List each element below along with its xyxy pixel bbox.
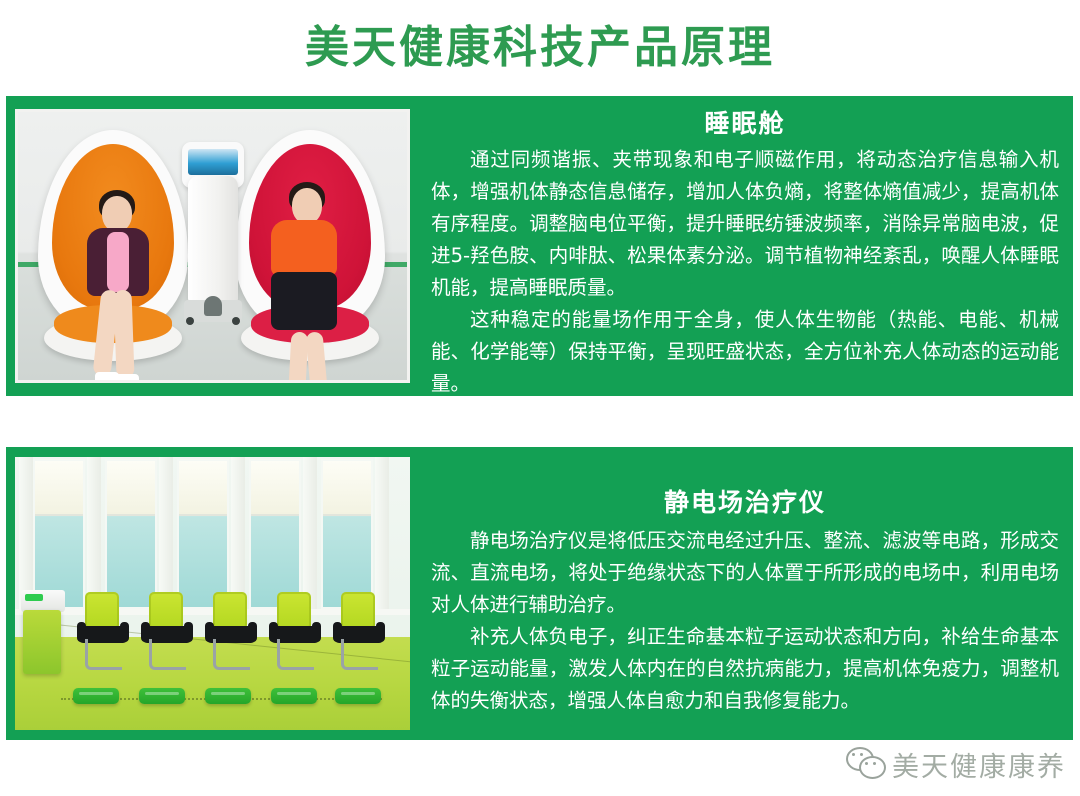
control-console-machine [182,142,244,322]
window-mullion [87,457,101,613]
chair-backrest [277,592,311,628]
window-blind [35,461,83,516]
chair-leg [341,639,378,670]
photo-therapy-room [15,457,410,730]
section-paragraph: 静电场治疗仪是将低压交流电经过升压、整流、滤波等电路，形成交流、直流电场，将处于… [431,525,1059,621]
console-body [188,176,238,304]
foot-pad-electrode [271,688,317,704]
chair-leg [85,639,122,670]
chair-leg [277,639,314,670]
window [33,459,85,609]
caster-wheel [232,317,240,325]
console-screen [188,149,238,175]
footer-brand-text: 美天健康康养 [892,745,1066,784]
footer-brand-watermark: 美天健康康养 [846,742,1066,786]
page-title: 美天健康科技产品原理 [0,22,1080,74]
section-paragraph: 这种稳定的能量场作用于全身，使人体生物能（热能、电能、机械能、化学能等）保持平衡… [431,304,1059,400]
window [177,459,229,609]
wechat-icon [846,747,884,781]
window-blind [179,461,227,516]
caster-wheel [186,317,194,325]
control-unit [21,590,65,612]
foot-pad-electrode [205,688,251,704]
chair-backrest [149,592,183,628]
wechat-eye [865,762,868,765]
leg [113,290,134,379]
wechat-eye [860,753,863,756]
window-mullion [375,457,389,613]
chair-backrest [341,592,375,628]
therapy-chair [77,592,129,670]
shoe [115,374,139,380]
foot-pad-electrode [139,688,185,704]
therapy-chair [269,592,321,670]
window-blind [107,461,155,516]
window-blind [251,461,299,516]
therapy-chair [141,592,193,670]
section-paragraph: 通过同频谐振、夹带现象和电子顺磁作用，将动态治疗信息输入机体，增强机体静态信息储… [431,144,1059,304]
chair-backrest [213,592,247,628]
text-column-electrostatic-therapy: 静电场治疗仪 静电场治疗仪是将低压交流电经过升压、整流、滤波等电路，形成交流、直… [431,483,1059,717]
person-in-red-pod [249,182,349,380]
window-blind [323,461,371,516]
therapy-chair [205,592,257,670]
window [249,459,301,609]
torso [271,220,337,276]
section-panel-electrostatic-therapy: 静电场治疗仪 静电场治疗仪是将低压交流电经过升压、整流、滤波等电路，形成交流、直… [6,447,1073,740]
section-paragraph: 补充人体负电子，纠正生命基本粒子运动状态和方向，补给生命基本粒子运动能量，激发人… [431,621,1059,717]
foot-pad-electrode [73,688,119,704]
section-heading-electrostatic-therapy: 静电场治疗仪 [431,483,1059,523]
person-in-orange-pod [73,190,173,380]
chair-backrest [85,592,119,628]
window-mullion [303,457,317,613]
leg [306,331,328,380]
chair-leg [149,639,186,670]
photo-sleep-pod-room [18,112,407,380]
foot-pad-electrode [335,688,381,704]
console-notch [204,296,222,316]
wechat-eye [873,762,876,765]
section-panel-sleep-pod: 睡眠舱 通过同频谐振、夹带现象和电子顺磁作用，将动态治疗信息输入机体，增强机体静… [6,96,1073,396]
room-background [18,112,407,380]
therapy-chair [333,592,385,670]
console-foot [184,300,242,322]
window [105,459,157,609]
head [102,196,132,232]
chair-leg [213,639,250,670]
wechat-bubble-small [859,756,886,779]
window-mullion [231,457,245,613]
head [292,188,322,224]
room-background [15,457,410,730]
leg [289,332,309,380]
photo-frame-electrostatic-therapy [15,457,410,730]
generator-cabinet [23,610,61,674]
text-column-sleep-pod: 睡眠舱 通过同频谐振、夹带现象和电子顺磁作用，将动态治疗信息输入机体，增强机体静… [431,104,1059,400]
window-mullion [159,457,173,613]
window [321,459,373,609]
photo-frame-sleep-pod [15,109,410,383]
section-heading-sleep-pod: 睡眠舱 [431,104,1059,144]
torso [87,228,149,296]
wechat-eye [852,753,855,756]
